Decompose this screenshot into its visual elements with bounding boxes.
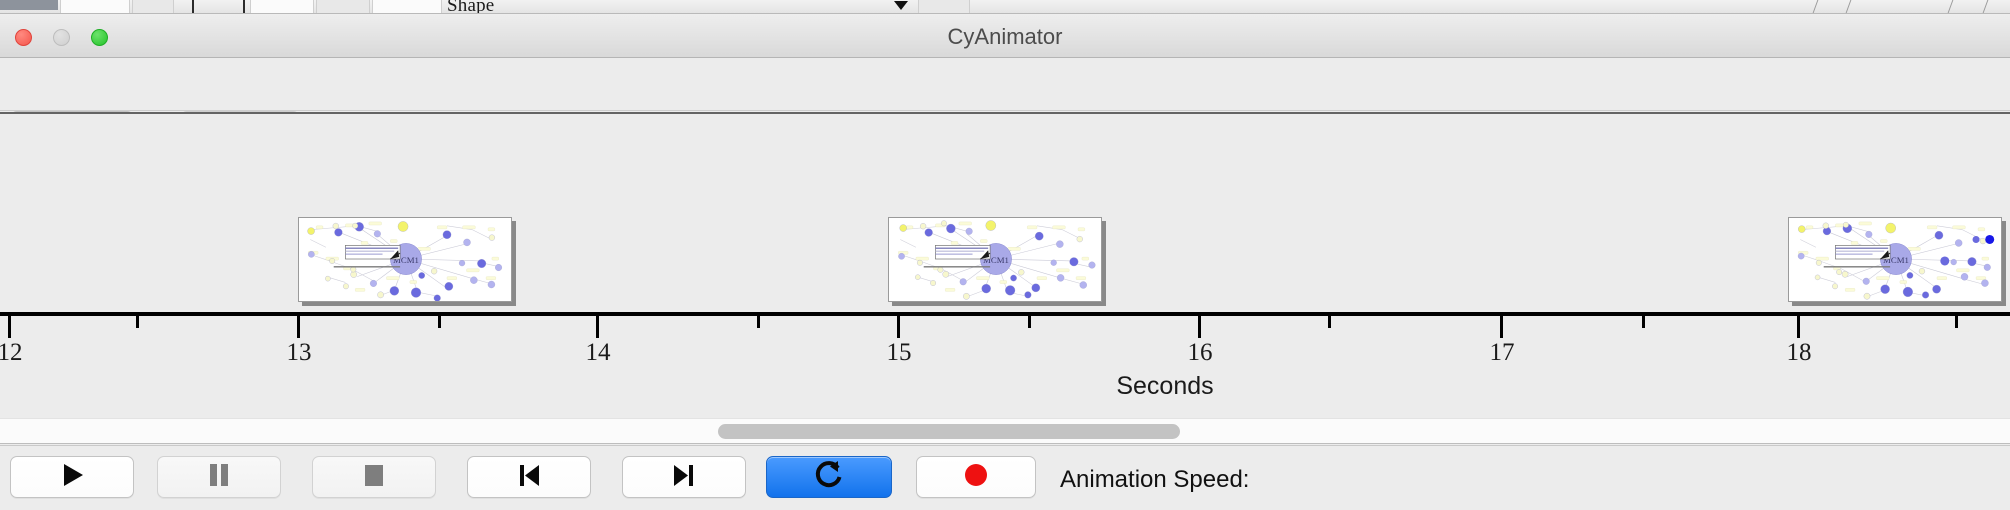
axis-tick [1642, 316, 1645, 328]
axis-tick-label: 14 [586, 339, 611, 367]
skip-back-button[interactable] [467, 456, 591, 498]
frame-thumbnail[interactable]: MCM1 [298, 217, 512, 302]
pause-icon [204, 460, 234, 495]
background-toolbar-segment [132, 0, 174, 13]
loop-button[interactable] [766, 456, 892, 498]
axis-tick [1328, 316, 1331, 328]
background-divider [1846, 0, 1852, 13]
axis-tick [596, 316, 599, 338]
network-preview: MCM1 [299, 218, 511, 301]
window-title: CyAnimator [0, 24, 2010, 50]
axis-tick-label: 16 [1188, 339, 1213, 367]
loop-icon [813, 459, 845, 496]
axis-tick [1500, 316, 1503, 338]
background-notch-icon [894, 1, 908, 10]
background-toolbar-segment [60, 0, 130, 13]
axis-tick [1028, 316, 1031, 328]
background-divider [1983, 0, 1989, 13]
background-titlebar-fragment [0, 0, 58, 10]
titlebar: CyAnimator [0, 14, 2010, 58]
background-window-strip: Shape [0, 0, 2010, 14]
play-button[interactable] [10, 456, 134, 498]
axis-tick-label: 12 [0, 339, 23, 367]
axis-tick [1955, 316, 1958, 328]
toolbar: Clear All Frames [0, 59, 2010, 111]
record-icon [962, 461, 990, 494]
axis-tick [297, 316, 300, 338]
background-toolbar-segment [372, 0, 442, 13]
record-button[interactable] [916, 456, 1036, 498]
background-tick [192, 0, 194, 13]
axis-tick-label: 13 [287, 339, 312, 367]
scrollbar-thumb[interactable] [718, 424, 1180, 439]
axis-tick-label: 18 [1787, 339, 1812, 367]
timeline-axis [0, 312, 2010, 316]
axis-tick [757, 316, 760, 328]
skip-forward-icon [669, 460, 699, 495]
axis-tick-label: 15 [887, 339, 912, 367]
timeline-panel[interactable]: 12131415161718 Seconds MCM1 MCM1 MCM1 [0, 112, 2010, 417]
background-toolbar-segment [250, 0, 314, 13]
background-toolbar-segment [918, 0, 970, 13]
axis-tick [136, 316, 139, 328]
playback-bar: Animation Speed: [0, 445, 2010, 510]
horizontal-scrollbar[interactable] [0, 418, 2010, 444]
axis-tick [1198, 316, 1201, 338]
background-toolbar-segment [316, 0, 370, 13]
frame-thumbnail[interactable]: MCM1 [1788, 217, 2002, 302]
axis-title: Seconds [1116, 372, 1213, 401]
stop-button[interactable] [312, 456, 436, 498]
skip-forward-button[interactable] [622, 456, 746, 498]
background-tick [243, 0, 245, 13]
axis-tick [1797, 316, 1800, 338]
network-preview: MCM1 [1789, 218, 2001, 301]
network-preview: MCM1 [889, 218, 1101, 301]
skip-back-icon [514, 460, 544, 495]
pause-button[interactable] [157, 456, 281, 498]
background-menu-label: Shape [447, 0, 494, 14]
axis-tick [8, 316, 11, 338]
axis-tick [897, 316, 900, 338]
animation-speed-label: Animation Speed: [1060, 466, 1249, 494]
background-divider [1948, 0, 1954, 13]
stop-icon [359, 460, 389, 495]
frame-thumbnail[interactable]: MCM1 [888, 217, 1102, 302]
play-icon [57, 460, 87, 495]
background-divider [1813, 0, 1819, 13]
cyanimator-window: Shape CyAnimator Clear A [0, 0, 2010, 510]
axis-tick-label: 17 [1490, 339, 1515, 367]
axis-tick [438, 316, 441, 328]
